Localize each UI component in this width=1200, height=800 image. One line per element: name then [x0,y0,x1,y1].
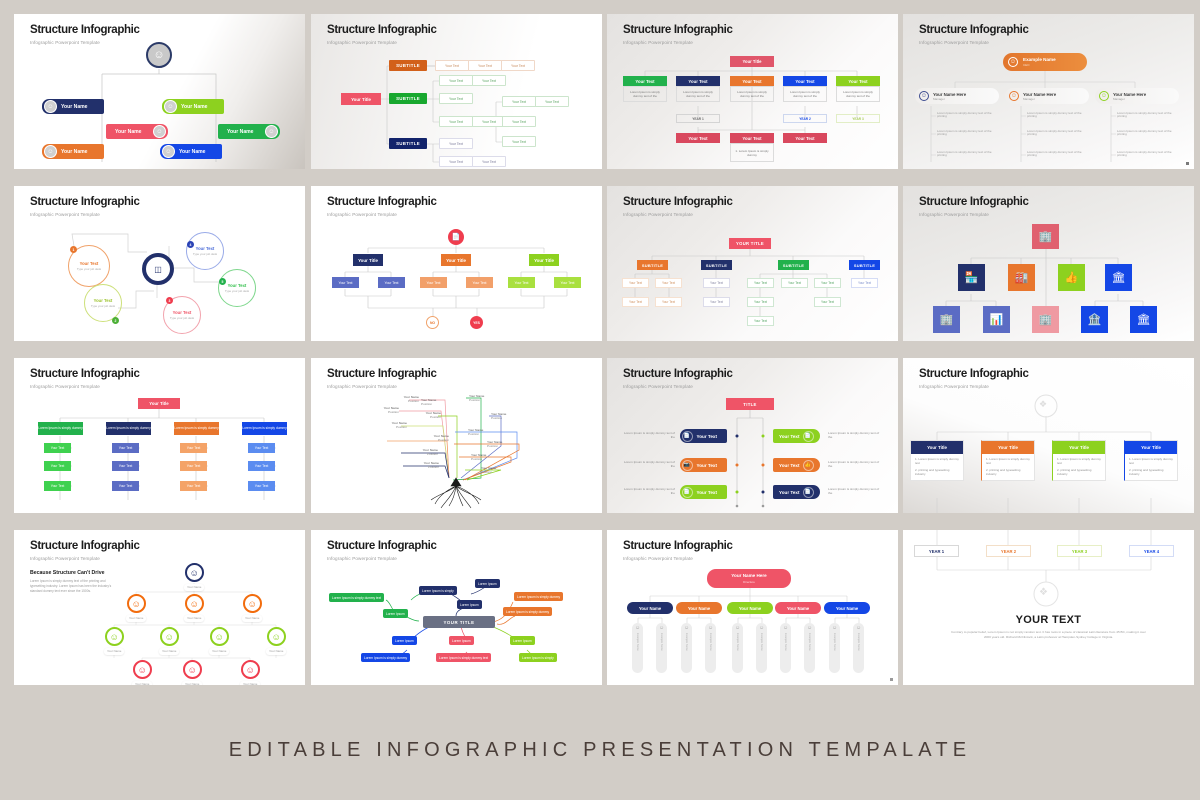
tree-label-position: Position [415,438,449,442]
sub-column[interactable]: ☺Example Name [853,623,864,673]
slide-5-circle-mindmap[interactable]: Structure Infographic Infographic Powerp… [14,186,305,341]
tree-label-10[interactable]: Your Name Position [405,461,439,469]
right-pill-2[interactable]: Your Text 👍 [773,458,820,472]
circle-sub-4: Type your job desk [193,253,217,256]
year-box-2[interactable]: YEAR 2 [783,114,827,123]
root-avatar[interactable]: ☺ [146,42,172,68]
leaf-box[interactable]: Your Text [781,278,808,288]
avatar-node[interactable]: ☺ Your Name [104,627,124,655]
branch-title-3[interactable]: Your Title [529,254,559,266]
level2-square-2[interactable]: 🏭 [1008,264,1035,291]
thumb-icon: 👍 [1065,271,1079,284]
sub-column-label: Example Name [736,633,739,651]
tree-label-3[interactable]: Your Name Position [469,394,503,402]
sub-column-label: Example Name [784,633,787,651]
sub-column[interactable]: ☺Example Name [756,623,767,673]
user-icon: ☺ [684,625,689,631]
sub-column[interactable]: ☺Example Name [705,623,716,673]
mindmap-box[interactable]: Lorem Ipsum is simply dummy text [329,593,384,602]
avatar-caption: Your Name [242,615,262,622]
chart-building-icon: 📊 [990,313,1004,326]
slide-2-subtitle-branch-tree[interactable]: Structure Infographic Infographic Powerp… [311,14,602,169]
circle-node-5[interactable]: Your Text Type your job desk [218,269,256,307]
tree-label-position: Position [421,402,455,406]
name-pill-1[interactable]: Your Name [627,602,673,614]
year-box-1[interactable]: YEAR 1 [676,114,720,123]
leaf-box[interactable]: Your Text [502,136,536,147]
left-pill-1[interactable]: 📄 Your Text [680,429,727,443]
leaf-box[interactable]: Your Text [747,278,774,288]
branch-leaf[interactable]: Your Text [420,277,447,288]
sub-column[interactable]: ☺Example Name [656,623,667,673]
tree-label-12[interactable]: Your Name Position [471,453,505,461]
circle-number-2: 2 [112,317,119,324]
year-box-3[interactable]: YEAR 3 [836,114,880,123]
root-icon-node[interactable]: 📄 [448,229,464,245]
factory-icon: 🏭 [1015,271,1029,284]
user-icon: ☺ [783,625,788,631]
slide-14-mindmap-boxes[interactable]: Structure Infographic Infographic Powerp… [311,530,602,685]
mindmap-box[interactable]: Lorem Ipsum [510,636,535,645]
leaf-box[interactable]: Your Text [502,116,536,127]
mindmap-box[interactable]: Lorem Ipsum [457,600,482,609]
sub-column-label: Example Name [760,633,763,651]
avatar-caption: Your Name [126,615,146,622]
mindmap-box[interactable]: Lorem Ipsum [383,609,408,618]
sub-column[interactable]: ☺Example Name [780,623,791,673]
leaf-box[interactable]: Your Text [472,116,506,127]
manager-name-1: Your Name Here [933,92,966,97]
name-tag-label-1: Your Name [61,104,88,110]
circle-node-4[interactable]: Your Text Type your job desk [186,232,224,270]
slide-15-name-here-columns[interactable]: Structure Infographic Infographic Powerp… [607,530,898,685]
user-icon: ☺ [241,660,260,679]
slide-7-your-title-subtitle-tree[interactable]: Structure Infographic Infographic Powerp… [607,186,898,341]
subtitle-box-2[interactable]: SUBTITLE [389,93,427,104]
avatar-node[interactable]: ☺ Your Name [242,594,262,622]
circle-sub-3: Type your job desk [170,317,194,320]
slide-canvas: Your Name Here Directure Your Name Your … [607,530,898,685]
column-leaf[interactable]: Your Text [44,461,71,471]
tree-label-1[interactable]: Your Name Position [389,395,419,403]
left-desc-2: Lorem Ipsum is simply dummy text of the [623,460,675,468]
tree-label-7[interactable]: Your Name Position [415,434,449,442]
top-manager-role: CEO [1023,63,1056,67]
column-head-3[interactable]: Lorem Ipsum is simply dummy [174,422,219,435]
office-icon: 🏢 [1039,313,1053,326]
mindmap-box[interactable]: Lorem Ipsum [392,636,417,645]
name-tag-6[interactable]: ☺ Your Name [160,144,222,159]
tree-label-14[interactable]: Your Name Position [421,398,455,406]
sub-column-label: Example Name [857,633,860,651]
mindmap-box[interactable]: Lorem Ipsum [475,579,500,588]
root-label: Your Title [149,401,168,406]
circle-number-5: 5 [219,278,226,285]
sub-column[interactable]: ☺Example Name [804,623,815,673]
manager-role-2: Manager [1023,97,1056,101]
document-icon: 📄 [452,233,461,241]
leaf-box[interactable]: Your Text [472,156,506,167]
slide-4-org-chart-managers[interactable]: Structure Infographic Infographic Powerp… [903,14,1194,169]
sub-column[interactable]: ☺Example Name [732,623,743,673]
top-card-title: Your Name Here [731,573,766,578]
circle-label-4: Your Text [196,246,215,251]
subtitle-box-2[interactable]: SUBTITLE [701,260,732,270]
doc-icon: 📄 [682,487,693,498]
subtitle-box-1[interactable]: SUBTITLE [637,260,668,270]
avatar-node-root[interactable]: ☺ Your Name [184,563,204,591]
circle-number-1: 1 [70,246,77,253]
slide-canvas: ❖ YEAR 1 YEAR 2 YEAR 3 YEAR 4 YOUR TEXT … [903,530,1194,685]
leaf-box[interactable]: Your Text [439,138,473,149]
name-pill-4[interactable]: Your Name [775,602,821,614]
right-pill-label-3: Your Text [779,490,800,495]
avatar-icon-1: ☺ [44,100,57,113]
avatar-icon-3: ☺ [153,125,166,138]
year-box-2[interactable]: YEAR 2 [986,545,1031,557]
column-leaf[interactable]: Your Text [180,443,207,453]
level3-square-1[interactable]: 🏢 [933,306,960,333]
left-desc-1: Lorem Ipsum is simply dummy text of the [623,431,675,439]
slide-6-decision-flow[interactable]: Structure Infographic Infographic Powerp… [311,186,602,341]
tree-label-position: Position [405,465,439,469]
user-icon: ☺ [635,625,640,631]
left-desc-3: Lorem Ipsum is simply dummy text of the [623,487,675,495]
subtitle-box-1[interactable]: SUBTITLE [389,60,427,71]
mindmap-box[interactable]: Lorem Ipsum is simply dummy text [436,653,491,662]
user-icon: ☺ [210,627,229,646]
name-pill-2[interactable]: Your Name [676,602,722,614]
manager-item: Lorem Ipsum is simply dummy text of the … [1027,151,1087,158]
column-header-1[interactable]: Your Text [623,76,667,86]
card-item: 2. printing and typesetting industry [911,465,963,480]
name-tag-2[interactable]: ☺ Your Name [162,99,224,114]
card-3[interactable]: Your Title 1. Lorem Ipsum is simply dumm… [1052,440,1106,481]
slide-canvas: ☺ ☺ Your Name ☺ Your Name Your Name ☺ Yo… [14,14,305,169]
slide-11-title-two-column-pills[interactable]: Structure Infographic Infographic Powerp… [607,358,898,513]
branch-leaf[interactable]: Your Text [332,277,359,288]
center-node[interactable]: ◫ [142,253,174,285]
column-leaf[interactable]: Your Text [248,461,275,471]
card-item: 2. printing and typesetting industry [1125,465,1177,480]
circle-label-5: Your Text [228,283,247,288]
column-header-4[interactable]: Your Text [783,76,827,86]
avatar-caption: Your Name [132,681,152,686]
slide-3-five-column-matrix[interactable]: Structure Infographic Infographic Powerp… [607,14,898,169]
name-tag-3[interactable]: Your Name ☺ [106,124,168,139]
leaf-box[interactable]: Your Text [703,278,730,288]
user-icon: ☺ [153,49,164,61]
left-pill-label-3: Your Text [697,490,718,495]
column-head-4[interactable]: Lorem Ipsum is simply dummy [242,422,287,435]
slide-1-radial-name-tags[interactable]: Structure Infographic Infographic Powerp… [14,14,305,169]
mindmap-box[interactable]: Lorem Ipsum is simply [519,653,557,662]
center-box[interactable]: YOUR TITLE [423,616,495,628]
column-head-2[interactable]: Lorem Ipsum is simply dummy [106,422,151,435]
tree-label-13[interactable]: Your Name Position [481,466,515,474]
slide-canvas: Your Name Position Your Name Position Yo… [311,358,602,513]
leaf-box[interactable]: Your Text [439,75,473,86]
slide-9-four-column-stack[interactable]: Structure Infographic Infographic Powerp… [14,358,305,513]
year-box-4[interactable]: YEAR 4 [1129,545,1174,557]
left-pill-2[interactable]: 📷 Your Text [680,458,727,472]
card-title-1: Your Title [911,441,963,454]
root-label: Your Title [351,97,371,102]
right-desc-3: Lorem Ipsum is simply dummy text of the [828,487,880,495]
name-tag-4[interactable]: Your Name ☺ [218,124,280,139]
user-icon: ☺ [160,627,179,646]
decision-no[interactable]: NO [426,316,439,329]
leaf-box[interactable]: Your Text [439,116,473,127]
column-body-4: Lorem Ipsum is simply dummy text of the [783,86,827,102]
mindmap-box[interactable]: Lorem Ipsum is simply dummy [503,607,552,616]
mindmap-box[interactable]: Lorem Ipsum is simply dummy [361,653,410,662]
branch-leaf[interactable]: Your Text [466,277,493,288]
root-box[interactable]: Your Title [138,398,180,409]
subtitle-box-3[interactable]: SUBTITLE [778,260,809,270]
body-heading: YOUR TEXT [903,614,1194,626]
branch-leaf[interactable]: Your Text [378,277,405,288]
user-icon: ☺ [267,627,286,646]
tree-label-4[interactable]: Your Name Position [373,421,407,429]
leaf-box[interactable]: Your Text [439,93,473,104]
slide-canvas: 📄 Your Title Your Text Your Text Your Ti… [311,186,602,341]
column-header-5[interactable]: Your Text [836,76,880,86]
card-item: 1. Lorem Ipsum is simply dummy text [911,454,963,465]
leaf-box[interactable]: Your Text [468,60,502,71]
leaf-box[interactable]: Your Text [501,60,535,71]
user-icon: ☺ [659,625,664,631]
manager-name-3: Your Name Here [1113,92,1146,97]
subtitle-label-2: SUBTITLE [396,96,420,101]
user-icon: ☺ [185,563,204,582]
leaf-box[interactable]: Your Text [747,316,774,326]
tree-label-position: Position [373,425,407,429]
column-leaf[interactable]: Your Text [44,443,71,453]
root-label: TITLE [743,402,756,407]
level2-square-4[interactable]: 🏛 [1105,264,1132,291]
card-2[interactable]: Your Title 1. Lorem Ipsum is simply dumm… [981,440,1035,481]
leaf-box[interactable]: Your Text [435,60,469,71]
name-pill-3[interactable]: Your Name [727,602,773,614]
avatar-node[interactable]: ☺ Your Name [184,594,204,622]
avatar-node[interactable]: ☺ Your Name [182,660,202,685]
leaf-box[interactable]: Your Text [502,96,536,107]
name-pill-5[interactable]: Your Name [824,602,870,614]
slide-canvas: YOUR TITLE SUBTITLE Your Text Your Text … [607,186,898,341]
right-pill-1[interactable]: Your Text 📄 [773,429,820,443]
tree-label-5[interactable]: Your Name Position [407,411,441,419]
user-icon: ☺ [127,594,146,613]
card-4[interactable]: Your Title 1. Lorem Ipsum is simply dumm… [1124,440,1178,481]
year-box-1[interactable]: YEAR 1 [914,545,959,557]
card-title-4: Your Title [1125,441,1177,454]
subtitle-box-4[interactable]: SUBTITLE [849,260,880,270]
manager-card-1[interactable]: ☺ Your Name Here Manager [915,88,999,104]
bottom-box-3[interactable]: Your Text [783,133,827,143]
sub-column[interactable]: ☺Example Name [829,623,840,673]
leaf-box[interactable]: Your Text [814,297,841,307]
level3-square-4[interactable]: 🏦 [1081,306,1108,333]
circle-label-1: Your Text [80,261,99,266]
mindmap-box[interactable]: Lorem Ipsum [449,636,474,645]
avatar-node[interactable]: ☺ Your Name [266,627,286,655]
user-icon: ☺ [243,594,262,613]
building-chart-icon: 🏢 [1039,230,1053,243]
level3-square-2[interactable]: 📊 [983,306,1010,333]
branch-title-1[interactable]: Your Title [353,254,383,266]
name-tag-label-2: Your Name [181,104,208,110]
tree-label-6[interactable]: Your Name Position [491,412,525,420]
column-leaf[interactable]: Your Text [248,481,275,491]
column-leaf[interactable]: Your Text [180,461,207,471]
sub-column-label: Example Name [636,633,639,651]
top-card[interactable]: Your Name Here Directure [707,569,791,588]
right-pill-3[interactable]: Your Text 📄 [773,485,820,499]
manager-role-1: Manager [933,97,966,101]
leaf-box[interactable]: Your Text [535,96,569,107]
column-leaf[interactable]: Your Text [112,461,139,471]
top-manager-card[interactable]: ☺ Example Name CEO [1003,53,1087,71]
leaf-box[interactable]: Your Text [439,156,473,167]
user-icon: ☺ [133,660,152,679]
bank-icon: 🏛 [1112,271,1126,284]
mindmap-box[interactable]: Lorem Ipsum is simply [419,586,457,595]
manager-name-2: Your Name Here [1023,92,1056,97]
column-header-3[interactable]: Your Text [730,76,774,86]
tree-label-position: Position [491,416,525,420]
name-tag-5[interactable]: ☺ Your Name [42,144,104,159]
leaf-box[interactable]: Your Text [622,297,649,307]
avatar-node[interactable]: ☺ Your Name [132,660,152,685]
user-icon: ☺ [856,625,861,631]
manager-item: Lorem Ipsum is simply dummy text of the … [1117,130,1177,137]
photo-icon: 📷 [682,460,693,471]
tower-icon: 🏦 [1088,313,1102,326]
root-box[interactable]: Your Title [730,56,774,67]
bottom-box-2[interactable]: Your Text [730,133,774,143]
leaf-box[interactable]: Your Text [851,278,878,288]
page-marker [890,678,893,681]
column-leaf[interactable]: Your Text [44,481,71,491]
leaf-box[interactable]: Your Text [703,297,730,307]
user-icon: ☺ [708,625,713,631]
slide-8-icon-square-tree[interactable]: Structure Infographic Infographic Powerp… [903,186,1194,341]
card-item: 2. printing and typesetting industry [982,465,1034,480]
avatar-icon-2: ☺ [164,100,177,113]
avatar-node[interactable]: ☺ Your Name [126,594,146,622]
column-head-1[interactable]: Lorem Ipsum is simply dummy [38,422,83,435]
card-title-3: Your Title [1053,441,1105,454]
column-leaf[interactable]: Your Text [112,481,139,491]
slide-13-avatar-pyramid[interactable]: Structure Infographic Infographic Powerp… [14,530,305,685]
level3-square-5[interactable]: 🏛 [1130,306,1157,333]
column-body-1: Lorem Ipsum is simply dummy text of the [623,86,667,102]
leaf-box[interactable]: Your Text [747,297,774,307]
slide-canvas: ◫ Your Text Type your job desk 1 Your Te… [14,186,305,341]
column-header-2[interactable]: Your Text [676,76,720,86]
leaf-box[interactable]: Your Text [655,297,682,307]
store-icon: 🏪 [965,271,979,284]
slide-canvas: Your Title SUBTITLE SUBTITLE SUBTITLE Yo… [311,14,602,169]
root-box[interactable]: TITLE [726,398,774,410]
circle-sub-1: Type your job desk [77,268,101,271]
branch-leaf[interactable]: Your Text [508,277,535,288]
avatar-node[interactable]: ☺ Your Name [159,627,179,655]
circle-label-3: Your Text [173,310,192,315]
root-icon-square[interactable]: 🏢 [1032,224,1059,249]
slide-grid: Structure Infographic Infographic Powerp… [0,0,1200,700]
subtitle-box-3[interactable]: SUBTITLE [389,138,427,149]
manager-card-2[interactable]: ☺ Your Name Here Manager [1005,88,1089,104]
tree-label-2[interactable]: Your Name Position [369,406,399,414]
leaf-box[interactable]: Your Text [472,75,506,86]
column-leaf[interactable]: Your Text [180,481,207,491]
right-pill-label-1: Your Text [779,434,800,439]
slide-canvas: YOUR TITLE Lorem Ipsum is simply dummy t… [311,530,602,685]
manager-item: Lorem Ipsum is simply dummy text of the … [1117,151,1177,158]
leaf-box[interactable]: Your Text [655,278,682,288]
avatar-node[interactable]: ☺ Your Name [209,627,229,655]
level2-square-1[interactable]: 🏪 [958,264,985,291]
user-icon: ☺ [1008,57,1018,67]
branch-leaf[interactable]: Your Text [554,277,581,288]
year-box-3[interactable]: YEAR 3 [1057,545,1102,557]
right-pill-label-2: Your Text [779,463,800,468]
top-manager-name: Example Name [1023,57,1056,62]
avatar-node[interactable]: ☺ Your Name [240,660,260,685]
tree-label-11[interactable]: Your Name Position [487,440,521,448]
level3-square-3[interactable]: 🏢 [1032,306,1059,333]
sub-column-label: Example Name [685,633,688,651]
tree-label-9[interactable]: Your Name Position [404,448,438,456]
bottom-box-1[interactable]: Your Text [676,133,720,143]
name-tag-1[interactable]: ☺ Your Name [42,99,104,114]
sub-column[interactable]: ☺Example Name [632,623,643,673]
manager-item: Lorem Ipsum is simply dummy text of the … [1027,130,1087,137]
branch-title-2[interactable]: Your Title [441,254,471,266]
decision-yes[interactable]: YES [470,316,483,329]
manager-card-3[interactable]: ☺ Your Name Here Manager [1095,88,1179,104]
column-leaf[interactable]: Your Text [112,443,139,453]
root-box[interactable]: Your Title [341,93,381,105]
leaf-box[interactable]: Your Text [814,278,841,288]
tree-label-position: Position [487,444,521,448]
leaf-box[interactable]: Your Text [622,278,649,288]
column-body-2: Lorem Ipsum is simply dummy text of the [676,86,720,102]
column-body-3: Lorem Ipsum is simply dummy text of the [730,86,774,102]
level2-square-3[interactable]: 👍 [1058,264,1085,291]
sub-column-label: Example Name [660,633,663,651]
root-box[interactable]: YOUR TITLE [729,238,771,249]
card-1[interactable]: Your Title 1. Lorem Ipsum is simply dumm… [910,440,964,481]
image-icon: 📄 [682,431,693,442]
avatar-icon-4: ☺ [265,125,278,138]
mindmap-box[interactable]: Lorem Ipsum is simply dummy [514,592,563,601]
tree-label-8[interactable]: Your Name Position [468,428,502,436]
slide-12-four-card-titles[interactable]: Structure Infographic Infographic Powerp… [903,358,1194,513]
sub-column[interactable]: ☺Example Name [681,623,692,673]
monitor-icon: ◫ [154,265,162,274]
avatar-caption: Your Name [182,681,202,686]
left-pill-label-2: Your Text [697,463,718,468]
slide-16-year-timeline-text[interactable]: ❖ YEAR 1 YEAR 2 YEAR 3 YEAR 4 YOUR TEXT … [903,530,1194,685]
slide-10-root-tree-names[interactable]: Structure Infographic Infographic Powerp… [311,358,602,513]
slide-canvas: Your Title Lorem Ipsum is simply dummy Y… [14,358,305,513]
right-desc-2: Lorem Ipsum is simply dummy text of the [828,460,880,468]
left-pill-3[interactable]: 📄 Your Text [680,485,727,499]
column-leaf[interactable]: Your Text [248,443,275,453]
